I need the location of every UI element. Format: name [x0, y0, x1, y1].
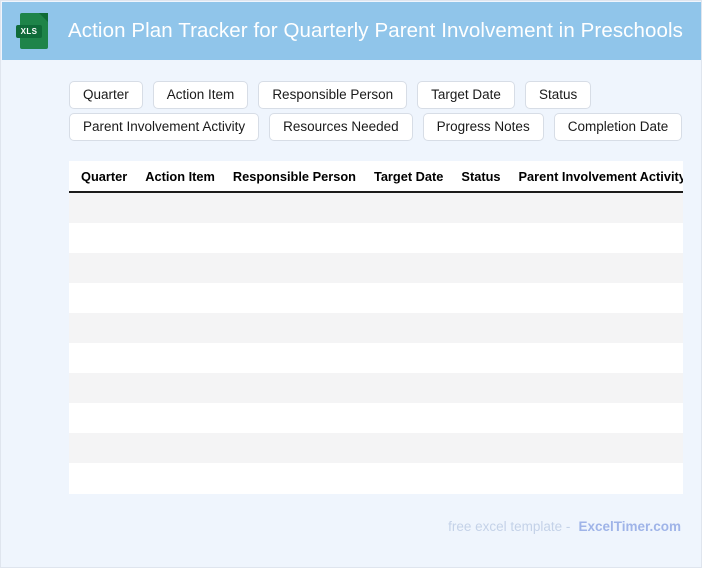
table-cell[interactable]	[224, 223, 365, 253]
table-cell[interactable]	[69, 403, 136, 433]
table-cell[interactable]	[136, 403, 224, 433]
table-cell[interactable]	[452, 223, 509, 253]
table-cell[interactable]	[510, 463, 683, 493]
table-body	[69, 192, 683, 493]
table-cell[interactable]	[224, 283, 365, 313]
table-cell[interactable]	[69, 253, 136, 283]
table-cell[interactable]	[224, 313, 365, 343]
column-header-target-date[interactable]: Target Date	[365, 161, 452, 192]
column-header-parent-involvement-activity[interactable]: Parent Involvement Activity	[510, 161, 683, 192]
table-cell[interactable]	[365, 433, 452, 463]
table-cell[interactable]	[510, 373, 683, 403]
chip-responsible-person[interactable]: Responsible Person	[258, 81, 407, 109]
table-cell[interactable]	[452, 433, 509, 463]
table-row[interactable]	[69, 343, 683, 373]
table-cell[interactable]	[365, 313, 452, 343]
chip-resources-needed[interactable]: Resources Needed	[269, 113, 413, 141]
table-cell[interactable]	[510, 403, 683, 433]
footer-free-label: free excel template -	[448, 519, 570, 534]
table-cell[interactable]	[510, 433, 683, 463]
table-cell[interactable]	[136, 433, 224, 463]
data-table: Quarter Action Item Responsible Person T…	[69, 161, 683, 493]
table-cell[interactable]	[224, 433, 365, 463]
table-cell[interactable]	[136, 223, 224, 253]
table-cell[interactable]	[136, 463, 224, 493]
table-cell[interactable]	[365, 403, 452, 433]
table-cell[interactable]	[452, 253, 509, 283]
table-cell[interactable]	[365, 192, 452, 223]
table-row[interactable]	[69, 463, 683, 493]
chip-quarter[interactable]: Quarter	[69, 81, 143, 109]
page-root: XLS Action Plan Tracker for Quarterly Pa…	[0, 0, 702, 568]
table-cell[interactable]	[510, 253, 683, 283]
xls-file-icon: XLS	[20, 13, 48, 49]
table-cell[interactable]	[69, 192, 136, 223]
table-row[interactable]	[69, 403, 683, 433]
table-cell[interactable]	[136, 253, 224, 283]
field-chip-row-primary: Quarter Action Item Responsible Person T…	[69, 81, 591, 109]
table-cell[interactable]	[510, 283, 683, 313]
table-row[interactable]	[69, 253, 683, 283]
table-row[interactable]	[69, 283, 683, 313]
chip-target-date[interactable]: Target Date	[417, 81, 515, 109]
table-cell[interactable]	[69, 343, 136, 373]
table-cell[interactable]	[136, 343, 224, 373]
table-cell[interactable]	[136, 373, 224, 403]
chip-progress-notes[interactable]: Progress Notes	[423, 113, 544, 141]
table-cell[interactable]	[69, 373, 136, 403]
table-cell[interactable]	[136, 192, 224, 223]
field-chip-row-secondary: Parent Involvement Activity Resources Ne…	[69, 113, 682, 141]
table-cell[interactable]	[224, 253, 365, 283]
footer-brand-link[interactable]: ExcelTimer.com	[578, 519, 681, 534]
table-cell[interactable]	[224, 403, 365, 433]
column-header-responsible-person[interactable]: Responsible Person	[224, 161, 365, 192]
table-cell[interactable]	[136, 283, 224, 313]
table-cell[interactable]	[365, 223, 452, 253]
chip-action-item[interactable]: Action Item	[153, 81, 249, 109]
table-cell[interactable]	[365, 373, 452, 403]
table-row[interactable]	[69, 223, 683, 253]
table-cell[interactable]	[452, 192, 509, 223]
app-header-bar: XLS Action Plan Tracker for Quarterly Pa…	[2, 2, 702, 60]
xls-icon-badge-label: XLS	[16, 25, 42, 38]
table-cell[interactable]	[452, 403, 509, 433]
table-row[interactable]	[69, 433, 683, 463]
table-cell[interactable]	[224, 192, 365, 223]
table-cell[interactable]	[224, 343, 365, 373]
chip-status[interactable]: Status	[525, 81, 591, 109]
table-cell[interactable]	[452, 313, 509, 343]
table-cell[interactable]	[510, 343, 683, 373]
data-table-container[interactable]: Quarter Action Item Responsible Person T…	[69, 161, 683, 494]
column-header-action-item[interactable]: Action Item	[136, 161, 224, 192]
table-cell[interactable]	[452, 463, 509, 493]
table-header-row: Quarter Action Item Responsible Person T…	[69, 161, 683, 192]
table-cell[interactable]	[452, 283, 509, 313]
table-cell[interactable]	[510, 192, 683, 223]
page-title: Action Plan Tracker for Quarterly Parent…	[68, 19, 683, 43]
table-head: Quarter Action Item Responsible Person T…	[69, 161, 683, 192]
xls-icon-fold	[39, 13, 48, 22]
chip-parent-involvement-activity[interactable]: Parent Involvement Activity	[69, 113, 259, 141]
column-header-status[interactable]: Status	[452, 161, 509, 192]
table-cell[interactable]	[365, 463, 452, 493]
table-cell[interactable]	[136, 313, 224, 343]
table-row[interactable]	[69, 192, 683, 223]
table-cell[interactable]	[224, 463, 365, 493]
table-cell[interactable]	[365, 253, 452, 283]
table-cell[interactable]	[69, 433, 136, 463]
table-cell[interactable]	[452, 373, 509, 403]
table-cell[interactable]	[365, 283, 452, 313]
table-cell[interactable]	[69, 283, 136, 313]
table-cell[interactable]	[69, 223, 136, 253]
table-cell[interactable]	[365, 343, 452, 373]
table-cell[interactable]	[69, 463, 136, 493]
table-row[interactable]	[69, 313, 683, 343]
table-cell[interactable]	[452, 343, 509, 373]
chip-completion-date[interactable]: Completion Date	[554, 113, 683, 141]
table-cell[interactable]	[510, 313, 683, 343]
table-cell[interactable]	[69, 313, 136, 343]
table-row[interactable]	[69, 373, 683, 403]
table-cell[interactable]	[224, 373, 365, 403]
column-header-quarter[interactable]: Quarter	[69, 161, 136, 192]
footer: free excel template - ExcelTimer.com	[448, 519, 681, 534]
table-cell[interactable]	[510, 223, 683, 253]
